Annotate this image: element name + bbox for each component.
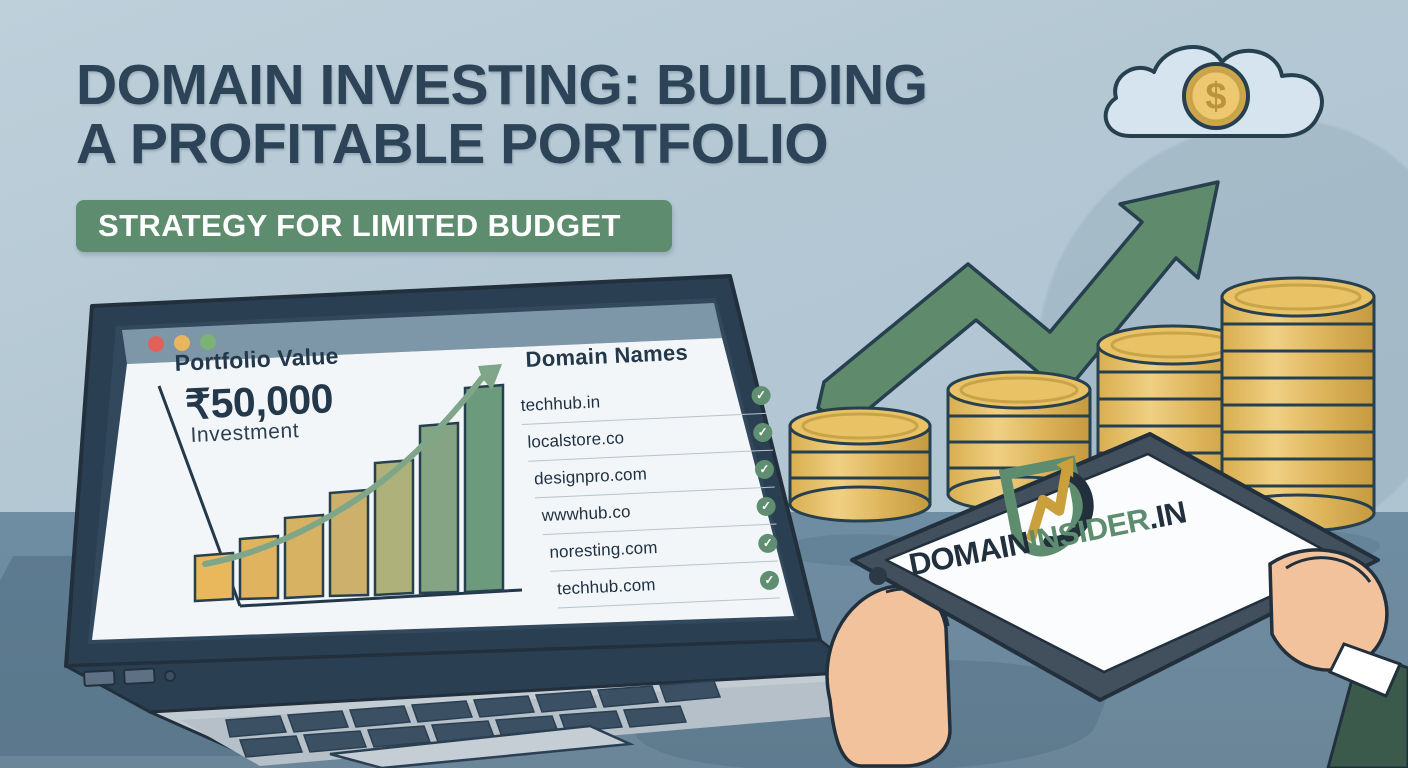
check-circle-icon: ✓	[753, 422, 773, 442]
tablet-in-hands	[800, 400, 1408, 768]
domain-name: wwwhub.co	[541, 502, 631, 526]
page-title: Domain Investing: Building A Profitable …	[76, 56, 976, 173]
check-circle-icon: ✓	[756, 496, 776, 516]
check-circle-icon: ✓	[758, 533, 778, 553]
check-circle-icon: ✓	[751, 385, 771, 405]
svg-text:$: $	[1205, 76, 1226, 118]
brand-suffix: .IN	[1145, 494, 1189, 536]
check-circle-icon: ✓	[755, 459, 775, 479]
subtitle-badge-label: Strategy for Limited Budget	[98, 208, 621, 244]
subtitle-badge: Strategy for Limited Budget	[76, 200, 672, 252]
cloud-with-dollar-coin: $	[1092, 24, 1342, 164]
check-circle-icon: ✓	[760, 570, 780, 590]
domain-name: designpro.com	[534, 464, 648, 489]
domain-name: noresting.com	[549, 538, 658, 563]
domain-name: techhub.com	[557, 575, 656, 599]
right-hand	[1270, 550, 1408, 768]
domain-name: techhub.in	[520, 392, 600, 416]
domain-name: localstore.co	[527, 428, 625, 452]
poster-canvas: Domain Investing: Building A Profitable …	[0, 0, 1408, 768]
headline-line-1: Domain Investing: Building	[76, 53, 928, 117]
left-hand	[827, 586, 950, 766]
window-close-dot	[148, 336, 164, 352]
dollar-coin-icon: $	[1184, 64, 1248, 128]
domain-names-list: techhub.in ✓ localstore.co ✓ designpro.c…	[520, 377, 780, 610]
kpi-subtitle: Investment	[190, 419, 300, 448]
